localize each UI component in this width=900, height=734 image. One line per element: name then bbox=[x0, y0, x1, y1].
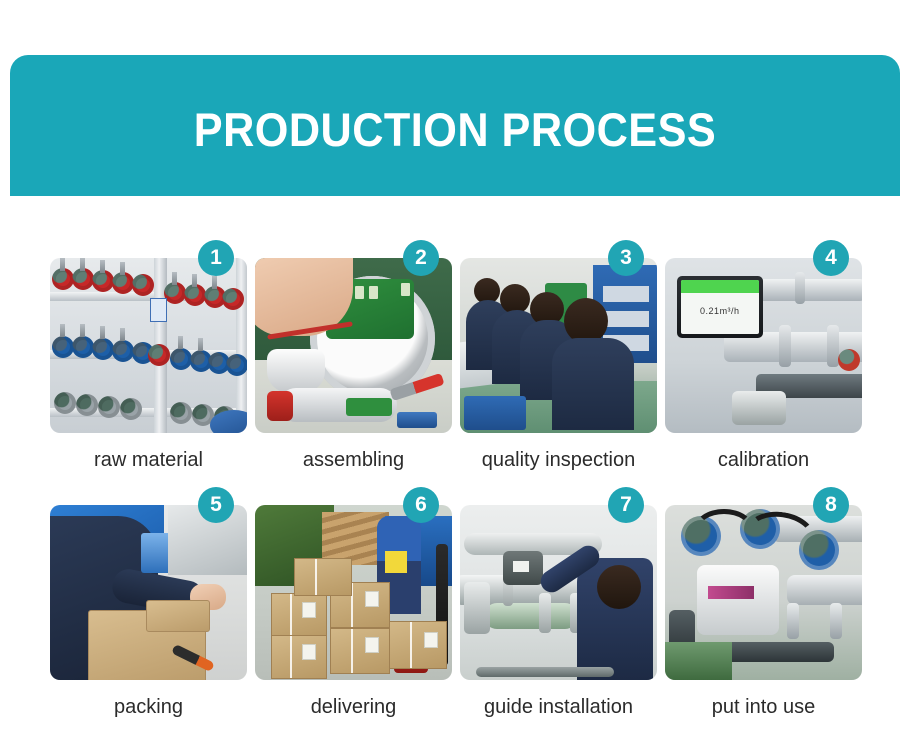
calibration-flow-value: 0.21m³/h bbox=[681, 306, 759, 316]
calibration-screen-header bbox=[681, 280, 759, 293]
step-number-badge-3: 3 bbox=[608, 240, 644, 276]
step-number-badge-1: 1 bbox=[198, 240, 234, 276]
process-step-1[interactable]: 1 bbox=[46, 240, 251, 472]
process-step-8[interactable]: 8 put into use bbox=[661, 487, 866, 719]
step-image-assembling[interactable] bbox=[255, 258, 452, 433]
calibration-hmi-panel[interactable]: 0.21m³/h bbox=[677, 276, 763, 338]
process-row-2: 5 packing 6 bbox=[0, 487, 900, 734]
process-step-5[interactable]: 5 packing bbox=[46, 487, 251, 719]
step-caption-2: assembling bbox=[251, 448, 456, 472]
step-caption-4: calibration bbox=[661, 448, 866, 472]
step-image-put-into-use[interactable] bbox=[665, 505, 862, 680]
step-image-packing[interactable] bbox=[50, 505, 247, 680]
step-thumbnail-wrap-7[interactable]: 7 bbox=[460, 505, 657, 680]
process-step-6[interactable]: 6 bbox=[251, 487, 456, 719]
step-caption-5: packing bbox=[46, 695, 251, 719]
step-caption-3: quality inspection bbox=[456, 448, 661, 472]
step-number-badge-5: 5 bbox=[198, 487, 234, 523]
process-step-2[interactable]: 2 as bbox=[251, 240, 456, 472]
step-caption-1: raw material bbox=[46, 448, 251, 472]
step-caption-6: delivering bbox=[251, 695, 456, 719]
step-thumbnail-wrap-2[interactable]: 2 bbox=[255, 258, 452, 433]
process-step-grid: 1 bbox=[0, 240, 900, 734]
process-step-4[interactable]: 4 0.21m³/h bbox=[661, 240, 866, 472]
step-image-delivering[interactable] bbox=[255, 505, 452, 680]
step-image-quality-inspection[interactable] bbox=[460, 258, 657, 433]
step-number-badge-2: 2 bbox=[403, 240, 439, 276]
page-title: PRODUCTION PROCESS bbox=[46, 105, 865, 155]
step-caption-8: put into use bbox=[661, 695, 866, 719]
step-image-calibration[interactable]: 0.21m³/h bbox=[665, 258, 862, 433]
step-thumbnail-wrap-8[interactable]: 8 bbox=[665, 505, 862, 680]
step-image-raw-material[interactable] bbox=[50, 258, 247, 433]
step-number-badge-7: 7 bbox=[608, 487, 644, 523]
step-number-badge-6: 6 bbox=[403, 487, 439, 523]
step-image-guide-installation[interactable] bbox=[460, 505, 657, 680]
step-caption-7: guide installation bbox=[456, 695, 661, 719]
step-thumbnail-wrap-3[interactable]: 3 bbox=[460, 258, 657, 433]
calibration-screen: 0.21m³/h bbox=[681, 280, 759, 334]
step-thumbnail-wrap-1[interactable]: 1 bbox=[50, 258, 247, 433]
process-step-3[interactable]: 3 bbox=[456, 240, 661, 472]
process-step-7[interactable]: 7 guide insta bbox=[456, 487, 661, 719]
step-thumbnail-wrap-6[interactable]: 6 bbox=[255, 505, 452, 680]
step-thumbnail-wrap-5[interactable]: 5 bbox=[50, 505, 247, 680]
step-thumbnail-wrap-4[interactable]: 4 0.21m³/h bbox=[665, 258, 862, 433]
process-row-1: 1 bbox=[0, 240, 900, 487]
step-number-badge-8: 8 bbox=[813, 487, 849, 523]
step-number-badge-4: 4 bbox=[813, 240, 849, 276]
page-header-banner: PRODUCTION PROCESS bbox=[10, 55, 900, 196]
